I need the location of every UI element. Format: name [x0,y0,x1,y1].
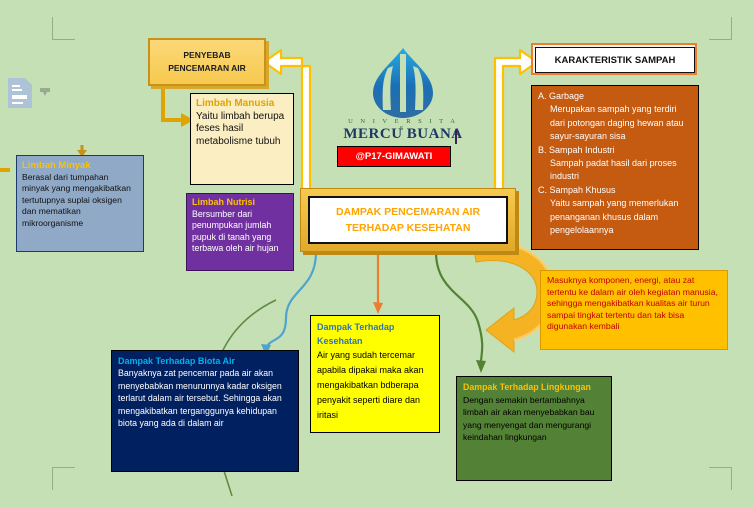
document-icon[interactable] [8,78,32,108]
penyebab-line-2: PENCEMARAN AIR [168,62,246,75]
masuknya-body: Masuknya komponen, energi, atau zat tert… [547,275,721,333]
arrow-center-to-lingkungan [436,252,486,373]
biota-title: Dampak Terhadap Biota Air [118,355,292,367]
node-dampak-lingkungan[interactable]: Dampak Terhadap Lingkungan Dengan semaki… [456,376,612,481]
page-corner-bottom-left [52,467,75,490]
kesehatan-title-line-2: Kesehatan [317,334,433,348]
doc-line-2 [12,89,22,91]
karakteristik-item-c: C. Sampah Khusus [538,184,692,197]
page-fold-corner [25,78,32,85]
dampak-center-line-2: TERHADAP KESEHATAN [346,220,471,236]
name-badge[interactable]: @P17-GIMAWATI [337,146,451,167]
lingkungan-body: Dengan semakin bertambahnya limbah air a… [463,394,605,444]
mercu-buana-logo-icon [355,48,451,118]
karakteristik-item-a: A. Garbage [538,90,692,103]
node-dampak-kesehatan[interactable]: Dampak Terhadap Kesehatan Air yang sudah… [310,315,440,433]
text-cursor [455,130,457,144]
karakteristik-header-label: KARAKTERISTIK SAMPAH [555,55,676,66]
logo-name: MERCU BUANA [338,126,468,143]
node-dampak-biota-air[interactable]: Dampak Terhadap Biota Air Banyaknya zat … [111,350,299,472]
doc-line-1 [12,85,20,87]
node-limbah-manusia[interactable]: Limbah Manusia Yaitu limbah berupa feses… [190,93,294,185]
node-limbah-nutrisi[interactable]: Limbah Nutrisi Bersumber dari penumpukan… [186,193,294,271]
kesehatan-title-line-1: Dampak Terhadap [317,320,433,334]
karakteristik-marker-a: A. [538,91,547,101]
doc-line-3 [12,95,27,99]
karakteristik-heading-a: Garbage [549,91,584,101]
node-masuknya-komponen[interactable]: Masuknya komponen, energi, atau zat tert… [540,270,728,350]
limbah-minyak-title: Limbah Minyak [22,160,138,172]
limbah-minyak-body: Berasal dari tumpahan minyak yang mengak… [22,172,138,230]
slide-canvas: PENYEBAB PENCEMARAN AIR Limbah Manusia Y… [0,0,754,507]
node-limbah-minyak[interactable]: Limbah Minyak Berasal dari tumpahan miny… [16,155,144,252]
page-corner-bottom-right [709,467,732,490]
karakteristik-item-b: B. Sampah Industri [538,144,692,157]
page-corner-top-left [52,17,75,40]
karakteristik-heading-c: Sampah Khusus [550,185,616,195]
limbah-nutrisi-title: Limbah Nutrisi [192,197,288,209]
limbah-manusia-body: Yaitu limbah berupa feses hasil metaboli… [196,111,288,149]
limbah-nutrisi-body: Bersumber dari penumpukan jumlah pupuk d… [192,209,288,255]
karakteristik-heading-b: Sampah Industri [549,145,615,155]
biota-body: Banyaknya zat pencemar pada air akan men… [118,367,292,429]
node-karakteristik-body[interactable]: A. Garbage Merupakan sampah yang terdiri… [531,85,699,250]
node-dampak-center[interactable]: DAMPAK PENCEMARAN AIR TERHADAP KESEHATAN [300,188,516,252]
karakteristik-text-b: Sampah padat hasil dari proses industri [538,157,692,184]
dampak-center-inner: DAMPAK PENCEMARAN AIR TERHADAP KESEHATAN [308,196,508,244]
node-karakteristik-header[interactable]: KARAKTERISTIK SAMPAH [531,43,697,75]
penyebab-line-1: PENYEBAB [183,49,230,62]
node-penyebab[interactable]: PENYEBAB PENCEMARAN AIR [148,38,266,86]
name-badge-label: @P17-GIMAWATI [356,151,433,162]
dampak-center-line-1: DAMPAK PENCEMARAN AIR [336,204,480,220]
limbah-manusia-title: Limbah Manusia [196,98,288,111]
karakteristik-marker-b: B. [538,145,547,155]
doc-line-4 [12,102,23,104]
karakteristik-text-c: Yaitu sampah yang memerlukan penanganan … [538,197,692,237]
arrow-center-to-kesehatan [373,252,383,314]
karakteristik-header-inner: KARAKTERISTIK SAMPAH [535,47,695,73]
karakteristik-marker-c: C. [538,185,547,195]
lingkungan-title: Dampak Terhadap Lingkungan [463,381,605,394]
karakteristik-text-a: Merupakan sampah yang terdiri dari poton… [538,103,692,143]
page-corner-top-right [709,17,732,40]
kesehatan-body: Air yang sudah tercemar apabila dipakai … [317,348,433,423]
